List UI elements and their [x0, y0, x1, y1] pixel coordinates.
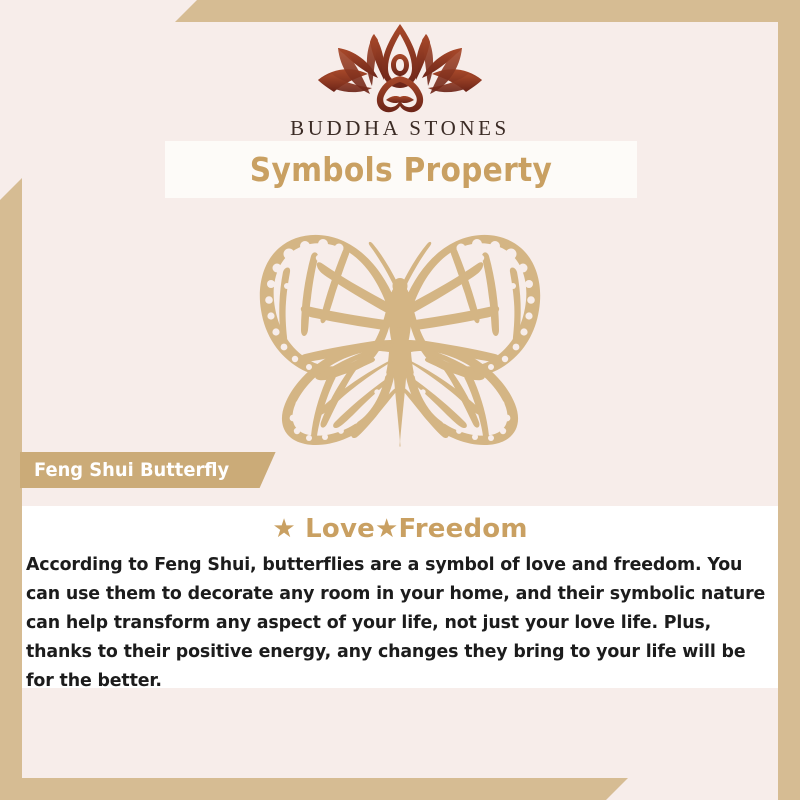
- hero-illustration: [0, 228, 800, 450]
- description-paragraph: According to Feng Shui, butterflies are …: [22, 544, 778, 696]
- brand-logo: BUDDHA STONES: [0, 22, 800, 141]
- frame-band-bottom: [0, 778, 800, 800]
- product-info-card: BUDDHA STONES Symbols Property: [0, 0, 800, 800]
- lotus-meditation-icon: [312, 22, 488, 114]
- brand-wordmark: BUDDHA STONES: [290, 116, 510, 141]
- subheading: ★ Love★Freedom: [22, 506, 778, 544]
- section-tab-label: Feng Shui Butterfly: [34, 459, 229, 481]
- section-tab-feng-shui-butterfly[interactable]: Feng Shui Butterfly: [20, 452, 276, 488]
- butterfly-icon: [215, 228, 585, 450]
- description-panel: ★ Love★Freedom According to Feng Shui, b…: [22, 506, 778, 688]
- page-title: Symbols Property: [250, 150, 552, 189]
- title-banner: Symbols Property: [165, 141, 637, 198]
- frame-band-top: [0, 0, 800, 22]
